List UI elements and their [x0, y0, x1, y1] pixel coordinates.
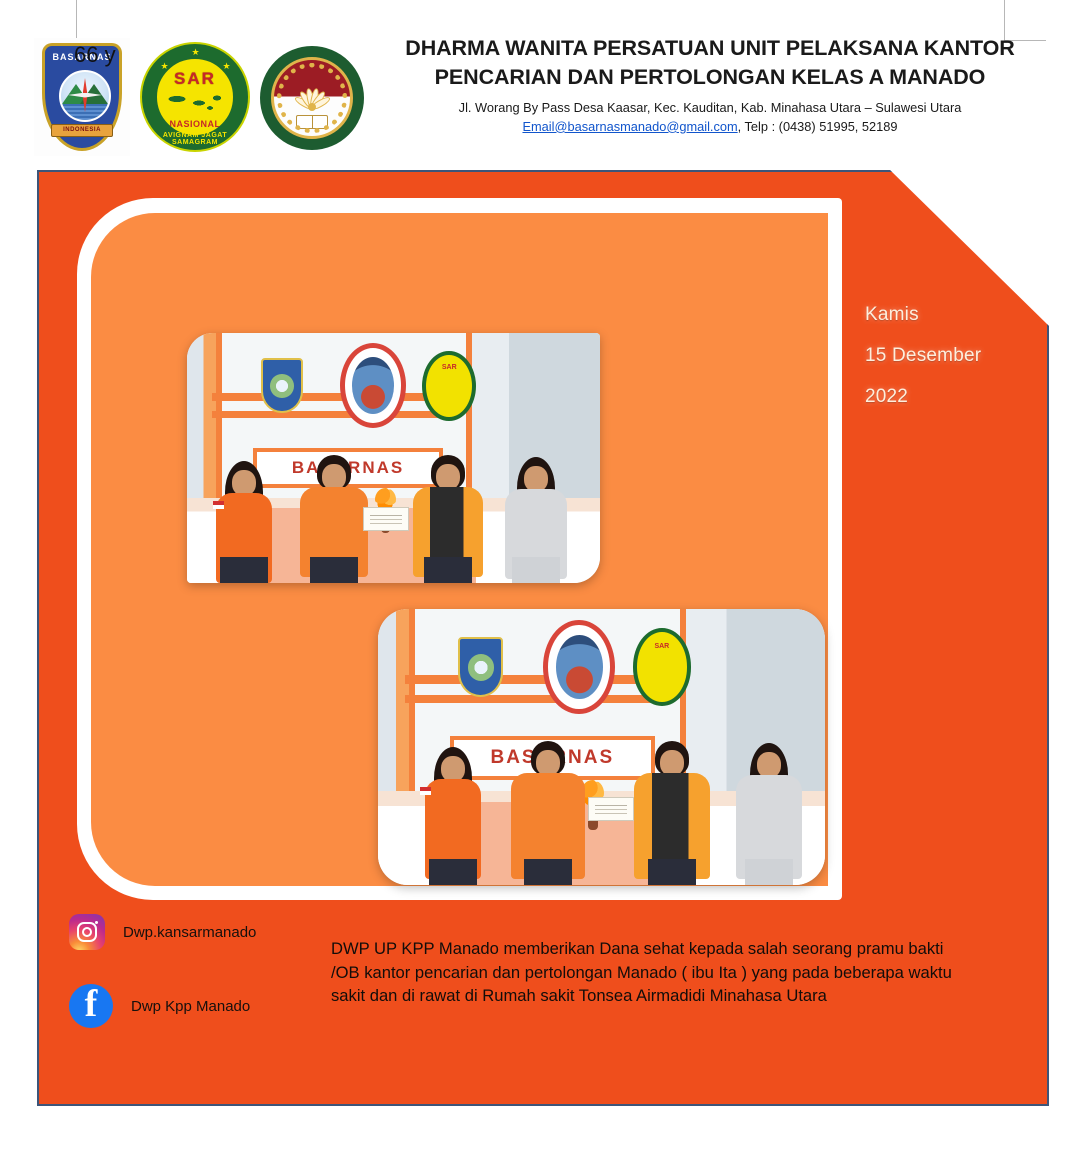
instagram-icon-dot [95, 921, 98, 924]
people-group [187, 443, 600, 583]
header-text-block: DHARMA WANITA PERSATUAN UNIT PELAKSANA K… [400, 34, 1020, 136]
indonesia-flag-patch-2 [420, 787, 431, 795]
person-3b [630, 745, 714, 885]
compass-rose-icon [68, 78, 102, 112]
indonesia-map-icon [165, 91, 227, 113]
person-3b-legs [648, 859, 696, 885]
event-date-block: Kamis 15 Desember 2022 [865, 294, 981, 418]
wall-rescue-ring-emblem [340, 343, 406, 428]
poster-description: DWP UP KPP Manado memberikan Dana sehat … [331, 937, 976, 1008]
wall-basarnas-shield-2 [458, 637, 503, 698]
date-day: Kamis [865, 294, 981, 335]
facebook-handle-label: Dwp Kpp Manado [131, 998, 250, 1015]
people-group-2 [378, 730, 825, 885]
basarnas-ribbon-text: INDONESIA [51, 124, 113, 137]
person-1-legs [220, 557, 268, 583]
instagram-icon[interactable] [69, 914, 105, 950]
person-1b-legs [429, 859, 477, 885]
poster-panel: BASARNAS [37, 170, 1049, 1106]
person-4b [730, 747, 808, 885]
organization-email-line: Email@basarnasmanado@gmail.com, Telp : (… [400, 118, 1020, 137]
person-1 [209, 465, 279, 583]
person-2b-legs [524, 859, 572, 885]
organization-email-link[interactable]: Email@basarnasmanado@gmail.com [522, 119, 737, 134]
organization-address: Jl. Worang By Pass Desa Kaasar, Kec. Kau… [400, 99, 1020, 118]
photo-handover-scene: BASARNAS [187, 333, 600, 583]
wall-stripe-2 [212, 411, 460, 419]
person-1b [416, 751, 490, 885]
sar-inner-disc: SAR NASIONAL [155, 57, 235, 137]
wall-stripe-4 [405, 695, 673, 703]
photo-thumbs-up[interactable]: BASARNAS [378, 609, 825, 885]
wreath-icon [277, 63, 347, 133]
sar-logo-ring-text: AVIGNAM JAGAT SAMAGRAM [142, 132, 248, 146]
organization-title: DHARMA WANITA PERSATUAN UNIT PELAKSANA K… [400, 34, 1020, 91]
wall-rescue-ring-emblem-2 [543, 620, 615, 714]
star-icon-top: ★ [191, 48, 200, 57]
indonesia-flag-patch [213, 501, 224, 509]
envelope-2 [588, 797, 634, 821]
social-facebook[interactable]: Dwp Kpp Manado [69, 984, 250, 1028]
photo-thumbs-up-scene: BASARNAS [378, 609, 825, 885]
dwp-inner-disc [271, 57, 353, 139]
social-instagram[interactable]: Dwp.kansarmanado [69, 914, 256, 950]
date-day-month: 15 Desember [865, 335, 981, 376]
photo-frame-inner-panel: BASARNAS [91, 213, 828, 886]
person-2b [506, 745, 590, 885]
organization-phone: , Telp : (0438) 51995, 52189 [738, 119, 898, 134]
sar-logo-sub-text: NASIONAL [157, 119, 233, 129]
envelope [363, 507, 409, 531]
person-4b-legs [745, 859, 793, 885]
date-year: 2022 [865, 376, 981, 417]
letterhead-header: BASARNAS INDONESIA ★ ★ ★ SAR NASIONAL AV… [0, 0, 1080, 170]
wall-sar-emblem-2 [633, 628, 691, 705]
photo-handover[interactable]: BASARNAS [187, 333, 600, 583]
basarnas-shield-emblem [59, 70, 111, 122]
logo-overlay-text: 66 y [74, 42, 116, 68]
wall-stripe-3 [405, 675, 673, 683]
person-2 [295, 459, 373, 583]
person-3-legs [424, 557, 472, 583]
facebook-icon[interactable] [69, 984, 113, 1028]
organization-contact: Jl. Worang By Pass Desa Kaasar, Kec. Kau… [400, 99, 1020, 136]
wall-basarnas-shield [261, 358, 302, 413]
person-2-legs [310, 557, 358, 583]
dharma-wanita-logo [260, 46, 364, 150]
person-4 [499, 461, 573, 583]
person-3 [409, 459, 487, 583]
instagram-handle-label: Dwp.kansarmanado [123, 924, 256, 941]
wall-sar-emblem [422, 351, 476, 421]
sar-logo-main-text: SAR [157, 69, 233, 89]
person-4-legs [512, 557, 560, 583]
sar-nasional-logo: ★ ★ ★ SAR NASIONAL AVIGNAM JAGAT SAMAGRA… [140, 42, 250, 152]
